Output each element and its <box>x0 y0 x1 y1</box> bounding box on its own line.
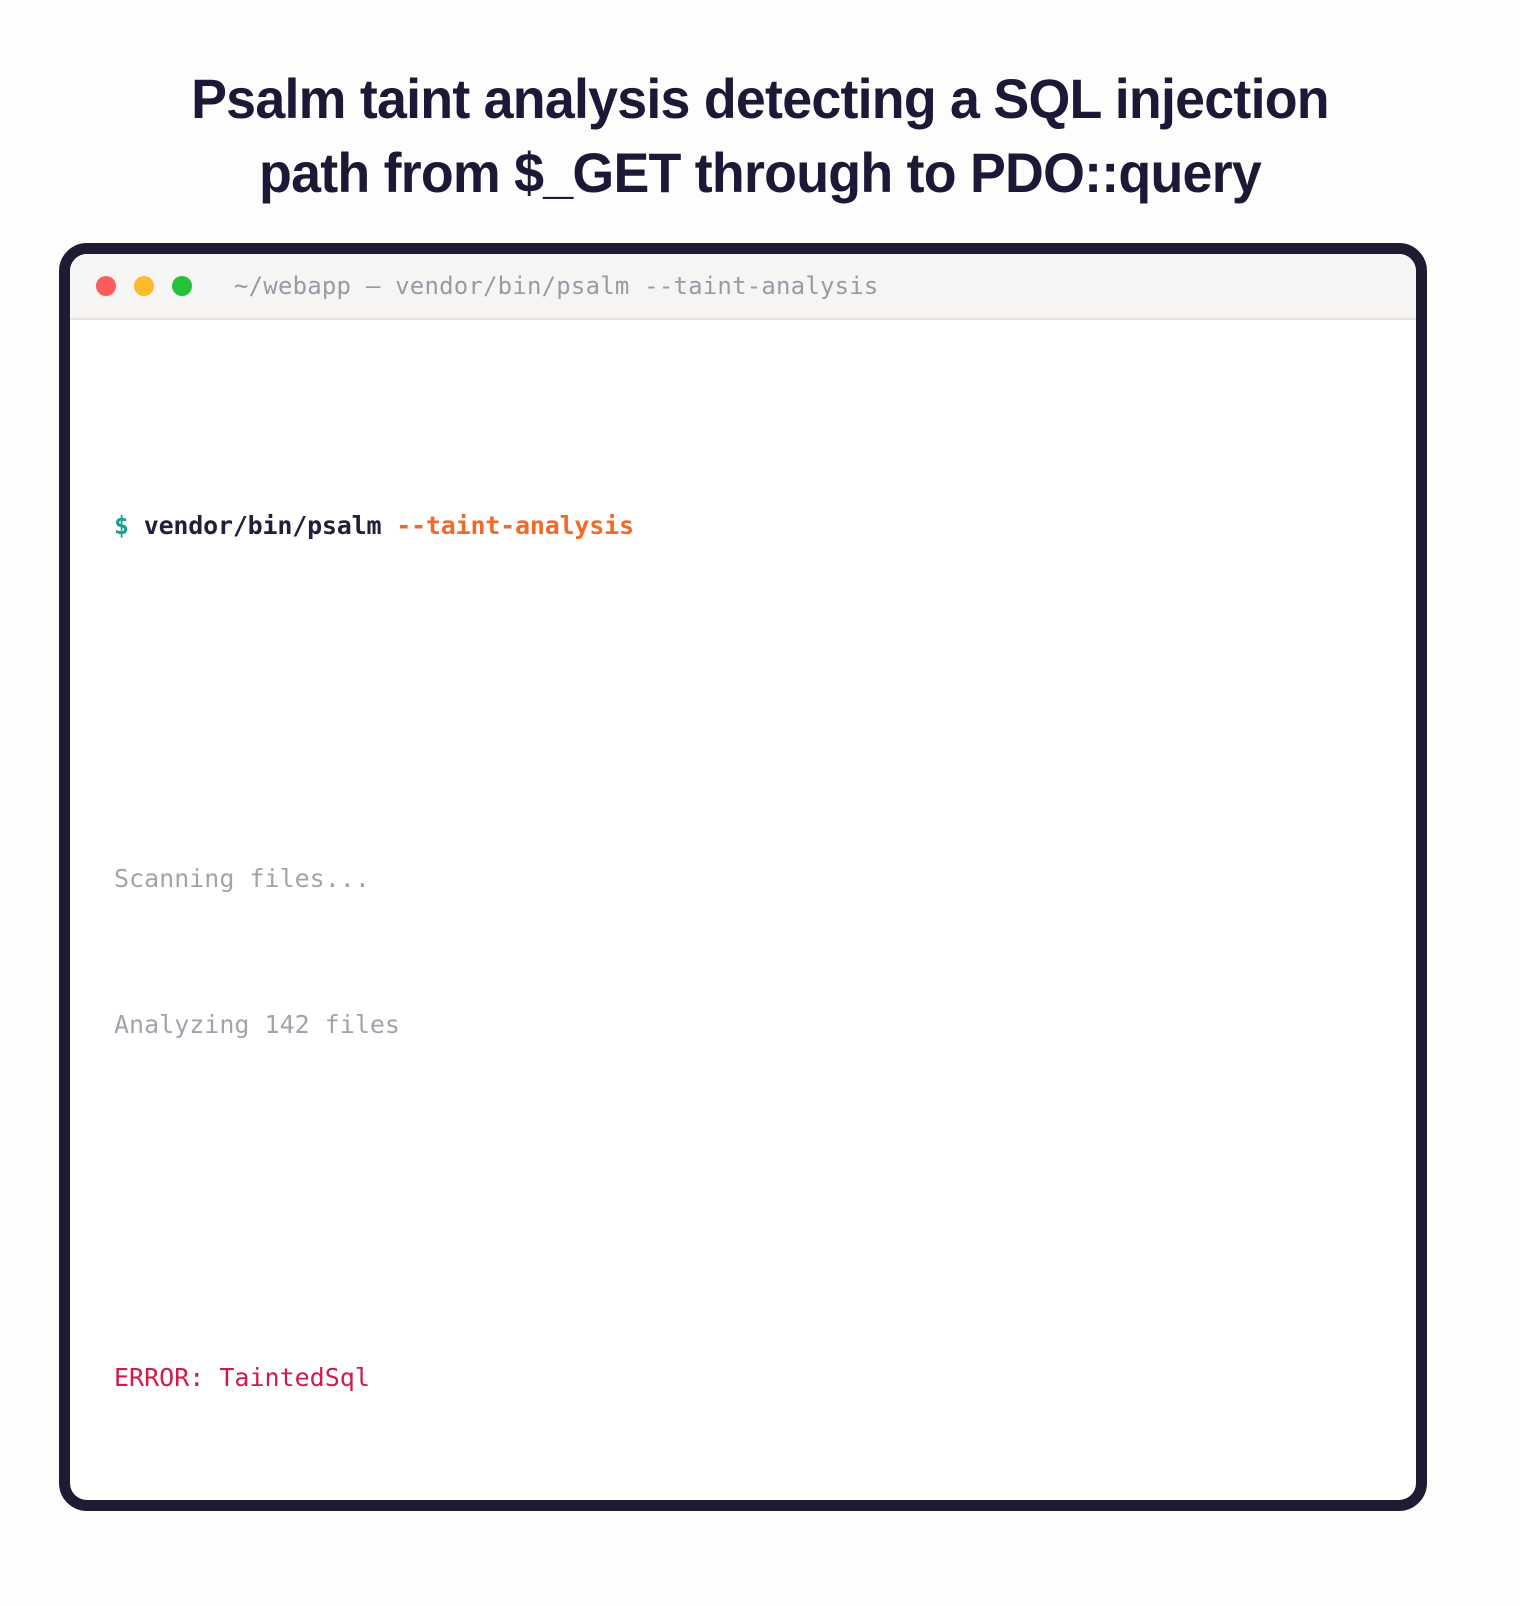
terminal-output[interactable]: $ vendor/bin/psalm --taint-analysis Scan… <box>70 320 1416 1511</box>
error-header-tainted-sql: ERROR: TaintedSql <box>114 1354 1372 1403</box>
page-title: Psalm taint analysis detecting a SQL inj… <box>30 0 1489 211</box>
close-icon[interactable] <box>96 276 116 296</box>
scan-line: Scanning files... <box>114 855 1372 904</box>
spacer <box>114 696 1372 710</box>
minimize-icon[interactable] <box>134 276 154 296</box>
terminal-title-bar: ~/webapp — vendor/bin/psalm --taint-anal… <box>70 254 1416 320</box>
spacer <box>114 1195 1372 1209</box>
terminal-window: ~/webapp — vendor/bin/psalm --taint-anal… <box>59 243 1427 1511</box>
error-detail-message: Message: Detected tainted SQL in call to… <box>114 1500 1372 1512</box>
maximize-icon[interactable] <box>172 276 192 296</box>
prompt-sigil: $ <box>114 511 129 540</box>
command-flag: --taint-analysis <box>396 511 634 540</box>
command-line: $ vendor/bin/psalm --taint-analysis <box>114 502 1372 551</box>
window-controls <box>96 276 192 296</box>
scan-line: Analyzing 142 files <box>114 1001 1372 1050</box>
command-text: vendor/bin/psalm <box>144 511 382 540</box>
terminal-title-text: ~/webapp — vendor/bin/psalm --taint-anal… <box>234 272 879 300</box>
